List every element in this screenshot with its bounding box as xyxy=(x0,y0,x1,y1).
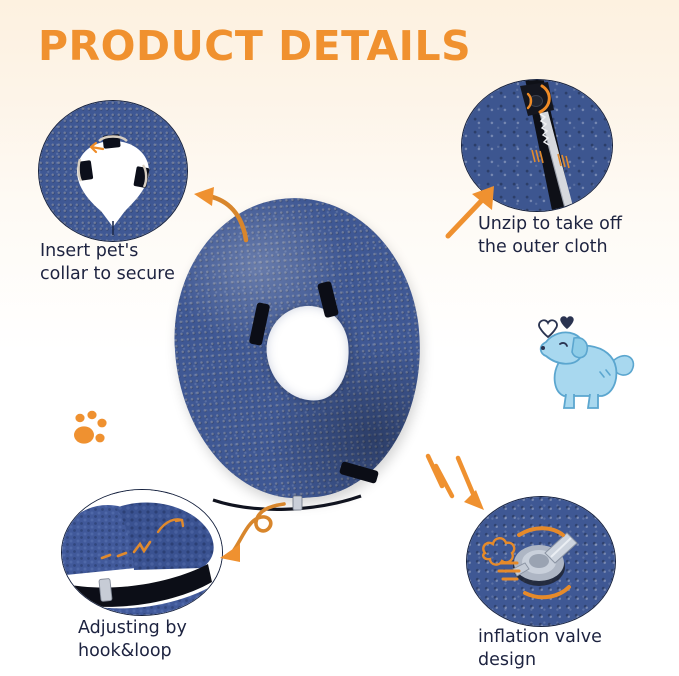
caption-inflation-valve: inflation valve design xyxy=(478,626,678,673)
arrow-curly-down-left xyxy=(214,500,290,572)
arrow-straight-up-right xyxy=(442,182,504,242)
caption-hook-loop: Adjusting by hook&loop xyxy=(78,617,288,664)
paw-print-icon xyxy=(72,408,112,450)
circle-frame-hook-loop xyxy=(61,489,223,616)
strap-buckle-closeup-icon xyxy=(62,490,222,615)
infographic-canvas: PRODUCT DETAILS xyxy=(0,0,679,676)
circle-frame-insert-collar xyxy=(38,100,188,242)
collar-top-view-icon xyxy=(39,101,187,241)
page-title: PRODUCT DETAILS xyxy=(38,22,471,70)
arrow-curved-up-left xyxy=(186,184,258,246)
arrow-zigzag-down-right xyxy=(416,452,494,534)
caption-unzip-cover: Unzip to take off the outer cloth xyxy=(478,213,678,260)
caption-insert-collar: Insert pet's collar to secure xyxy=(40,240,240,287)
dog-illustration xyxy=(528,312,640,412)
